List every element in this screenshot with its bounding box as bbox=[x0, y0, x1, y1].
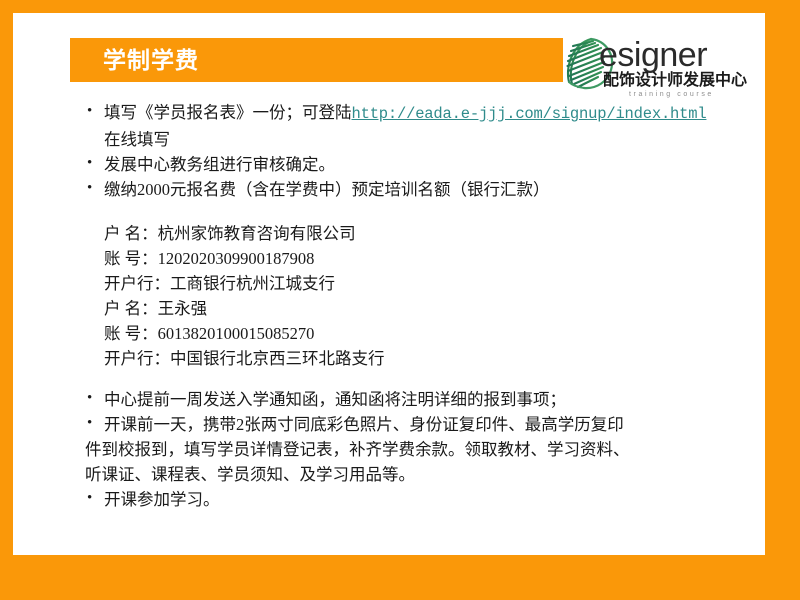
bank-1-branch-label: 开户行： bbox=[104, 274, 170, 293]
bank-1-holder-value: 杭州家饰教育咨询有限公司 bbox=[158, 224, 356, 243]
bullet-6-text: 开课参加学习。 bbox=[104, 490, 220, 509]
bullet-5-cont-2: 听课证、课程表、学员须知、及学习用品等。 bbox=[85, 465, 415, 484]
bank-account-1-holder: 户 名：杭州家饰教育咨询有限公司 bbox=[85, 221, 715, 246]
bank-account-2-branch: 开户行：中国银行北京西三环北路支行 bbox=[85, 346, 715, 371]
bullet-2-text: 发展中心教务组进行审核确定。 bbox=[104, 155, 335, 174]
registration-url-link[interactable]: http://eada.e-jjj.com/signup/index.html bbox=[352, 105, 707, 123]
slide-frame: 学制学费 bbox=[0, 0, 800, 600]
bank-1-account-label: 账 号： bbox=[104, 249, 158, 268]
bank-2-branch-value: 中国银行北京西三环北路支行 bbox=[170, 349, 385, 368]
bank-1-account-value: 1202020309900187908 bbox=[158, 249, 315, 268]
bank-account-2-holder: 户 名：王永强 bbox=[85, 296, 715, 321]
bank-2-account-label: 账 号： bbox=[104, 324, 158, 343]
bullet-1-suffix: 在线填写 bbox=[104, 130, 170, 149]
bank-1-branch-value: 工商银行杭州江城支行 bbox=[170, 274, 335, 293]
logo-wordmark: esigner bbox=[599, 36, 707, 74]
bullet-item-register-form: 填写《学员报名表》一份；可登陆http://eada.e-jjj.com/sig… bbox=[85, 100, 715, 152]
bullet-item-checkin-cont-1: 件到校报到，填写学员详情登记表，补齐学费余款。领取教材、学习资料、 bbox=[85, 437, 715, 462]
bullet-5-text: 开课前一天，携带2张两寸同底彩色照片、身份证复印件、最高学历复印 bbox=[104, 415, 624, 434]
slide-canvas: 学制学费 bbox=[13, 13, 765, 555]
logo-chinese-name: 配饰设计师发展中心 bbox=[603, 71, 747, 90]
bank-2-account-value: 6013820100015085270 bbox=[158, 324, 315, 343]
bullet-item-start-class: 开课参加学习。 bbox=[85, 487, 715, 512]
bullet-item-notice-letter: 中心提前一周发送入学通知函，通知函将注明详细的报到事项； bbox=[85, 387, 715, 412]
bullet-item-review: 发展中心教务组进行审核确定。 bbox=[85, 152, 715, 177]
bank-account-1-branch: 开户行：工商银行杭州江城支行 bbox=[85, 271, 715, 296]
brand-logo: esigner 配饰设计师发展中心 training course bbox=[555, 28, 745, 106]
logo-tagline: training course bbox=[629, 90, 714, 99]
bullet-1-prefix: 填写《学员报名表》一份；可登陆 bbox=[104, 103, 352, 122]
bank-2-holder-value: 王永强 bbox=[158, 299, 208, 318]
slide-title-bar: 学制学费 bbox=[70, 38, 563, 82]
bank-2-branch-label: 开户行： bbox=[104, 349, 170, 368]
bullet-5-cont-1: 件到校报到，填写学员详情登记表，补齐学费余款。领取教材、学习资料、 bbox=[85, 440, 630, 459]
slide-body: 填写《学员报名表》一份；可登陆http://eada.e-jjj.com/sig… bbox=[85, 100, 715, 512]
bank-2-holder-label: 户 名： bbox=[104, 299, 158, 318]
bullet-4-text: 中心提前一周发送入学通知函，通知函将注明详细的报到事项； bbox=[104, 390, 566, 409]
bullet-item-checkin-cont-2: 听课证、课程表、学员须知、及学习用品等。 bbox=[85, 462, 715, 487]
bank-account-2-number: 账 号：6013820100015085270 bbox=[85, 321, 715, 346]
bullet-item-deposit: 缴纳2000元报名费（含在学费中）预定培训名额（银行汇款） bbox=[85, 177, 715, 202]
bank-1-holder-label: 户 名： bbox=[104, 224, 158, 243]
bullet-3-text: 缴纳2000元报名费（含在学费中）预定培训名额（银行汇款） bbox=[104, 180, 550, 199]
bullet-item-checkin: 开课前一天，携带2张两寸同底彩色照片、身份证复印件、最高学历复印 bbox=[85, 412, 715, 437]
spacer-before-bank-info bbox=[85, 202, 715, 221]
bank-account-1-number: 账 号：1202020309900187908 bbox=[85, 246, 715, 271]
page-title: 学制学费 bbox=[103, 45, 199, 75]
spacer-after-bank-info bbox=[85, 371, 715, 387]
